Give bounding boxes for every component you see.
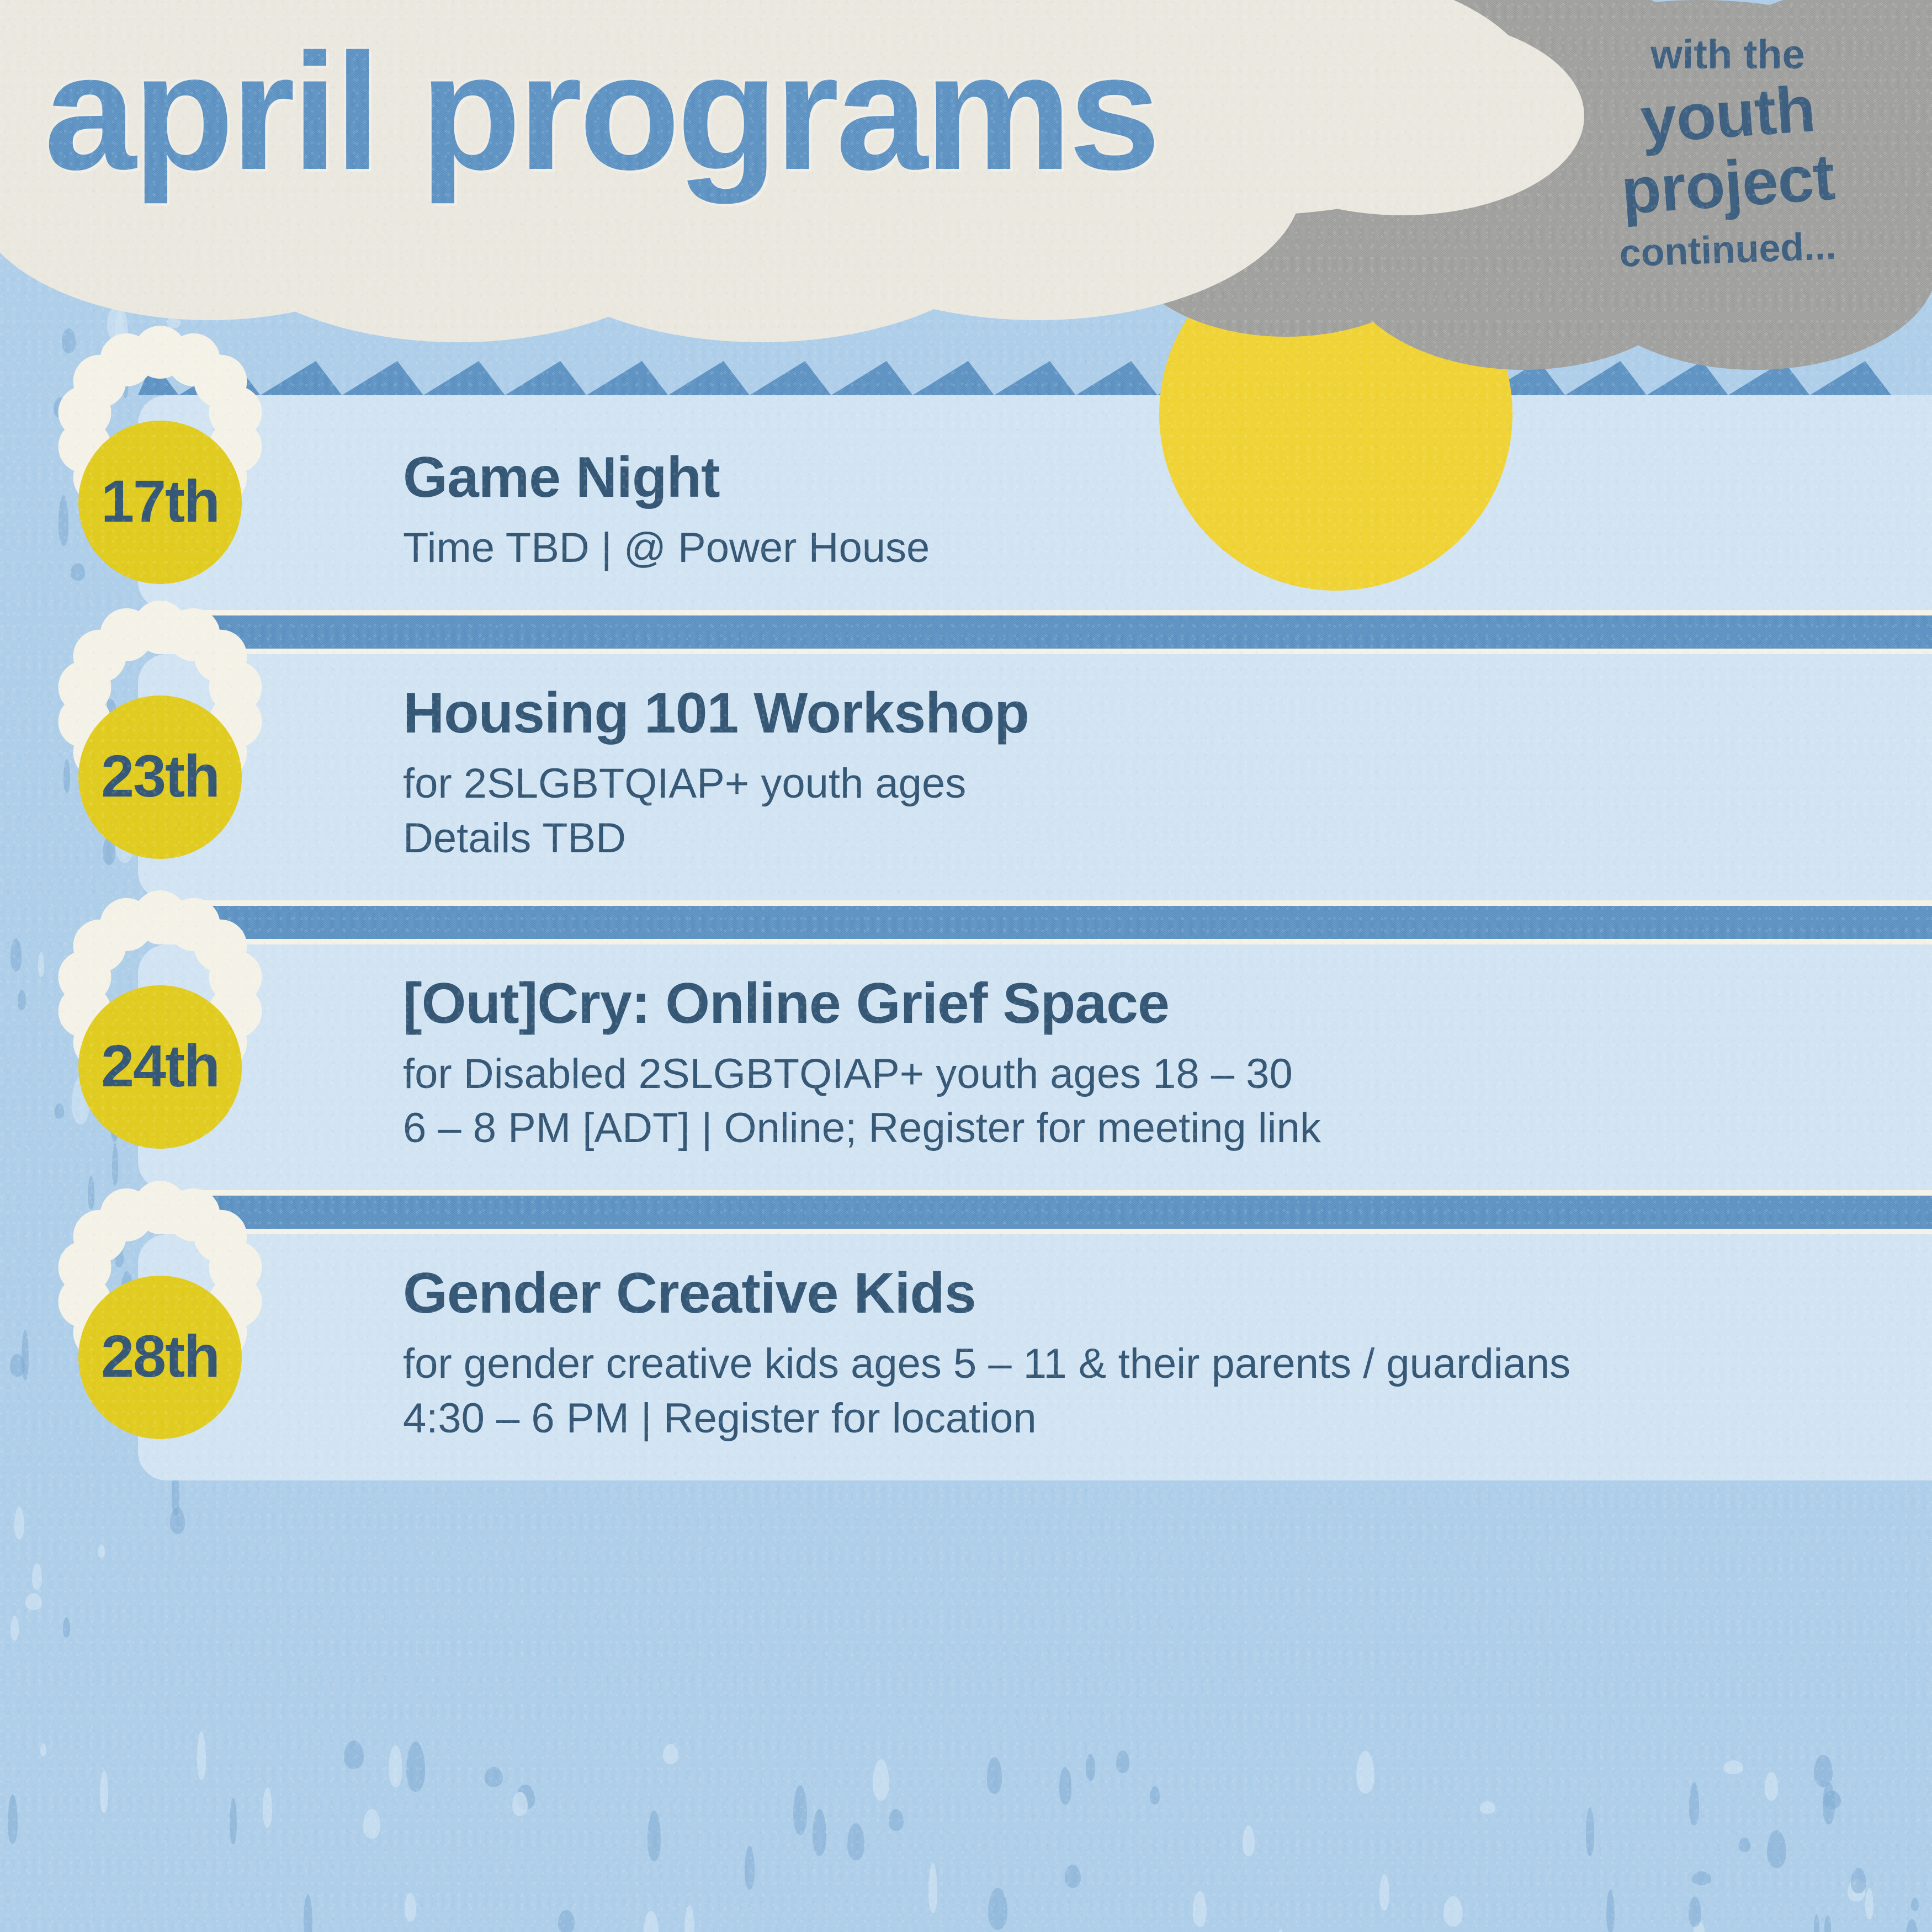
- rain-drop: [32, 1563, 43, 1590]
- rain-drop: [230, 1798, 237, 1844]
- badge-day-number: 17th: [101, 471, 219, 531]
- rain-drop: [847, 1823, 864, 1860]
- rain-drop: [1739, 1838, 1750, 1852]
- rain-drop: [745, 1846, 755, 1889]
- event-card[interactable]: Housing 101 Workshopfor 2SLGBTQIAP+ yout…: [138, 654, 1932, 900]
- rain-drop: [512, 1792, 528, 1816]
- rain-drop: [406, 1742, 426, 1792]
- rain-drop: [63, 1617, 70, 1638]
- rain-drop: [197, 1731, 206, 1781]
- rain-drop: [1277, 1929, 1285, 1932]
- date-badge[interactable]: 24th: [61, 968, 259, 1166]
- rain-drop: [873, 1759, 889, 1801]
- rain-drop: [304, 1894, 312, 1932]
- event-detail-line: for Disabled 2SLGBTQIAP+ youth ages 18 –…: [403, 1047, 1899, 1102]
- rain-drop: [988, 1888, 1007, 1929]
- date-badge[interactable]: 28th: [61, 1258, 259, 1457]
- rain-drop: [1767, 1830, 1786, 1869]
- rain-drop: [1586, 1807, 1594, 1856]
- rain-drop: [1356, 1751, 1374, 1793]
- rain-drop: [14, 1507, 24, 1540]
- rain-drop: [1059, 1767, 1072, 1804]
- rain-drop: [100, 1770, 108, 1813]
- card-divider-band: [138, 610, 1932, 654]
- poster-canvas: april programs with the youth project co…: [0, 0, 1932, 1932]
- date-badge[interactable]: 23th: [61, 678, 259, 877]
- rain-drop: [98, 1544, 105, 1558]
- rain-drop: [1911, 1898, 1919, 1911]
- rain-drop: [170, 1508, 185, 1534]
- event-detail-line: for 2SLGBTQIAP+ youth ages: [403, 757, 1899, 811]
- rain-drop: [987, 1757, 1002, 1794]
- card-divider-band: [138, 1190, 1932, 1234]
- rain-drop: [344, 1740, 364, 1769]
- rain-drop: [647, 1811, 660, 1861]
- rain-drop: [1814, 1755, 1833, 1787]
- event-title: [Out]Cry: Online Grief Space: [403, 974, 1899, 1033]
- kicker-continued: continued...: [1556, 224, 1899, 276]
- event-title: Housing 101 Workshop: [403, 684, 1899, 742]
- badge-core: 23th: [78, 696, 242, 859]
- card-divider-band: [138, 900, 1932, 944]
- event-detail-line: Time TBD | @ Power House: [403, 521, 1899, 576]
- rain-drop: [405, 1893, 416, 1922]
- rain-drop: [8, 1795, 18, 1844]
- rain-drop: [1823, 1791, 1840, 1809]
- rain-drop: [813, 1809, 826, 1856]
- badge-petal: [100, 898, 153, 951]
- rain-drop: [558, 1910, 575, 1932]
- rain-drop: [363, 1809, 380, 1839]
- rain-drop: [1480, 1801, 1496, 1814]
- rain-drop: [1689, 1782, 1699, 1826]
- event-detail-line: for gender creative kids ages 5 – 11 & t…: [403, 1337, 1899, 1392]
- rain-drop: [793, 1785, 807, 1835]
- rain-drop: [663, 1744, 678, 1764]
- rain-drop: [389, 1745, 402, 1787]
- rain-drop: [889, 1809, 904, 1831]
- event-title: Gender Creative Kids: [403, 1264, 1899, 1323]
- rain-drop: [1814, 1914, 1819, 1932]
- rain-drop: [25, 1593, 42, 1610]
- kicker-with-the: with the: [1557, 33, 1899, 76]
- rain-drop: [1765, 1772, 1779, 1800]
- kicker-block: with the youth project continued...: [1557, 33, 1899, 270]
- rain-drop: [1243, 1825, 1255, 1857]
- rain-drop: [1689, 1897, 1701, 1927]
- rain-drop: [1694, 1922, 1705, 1932]
- rain-drop: [684, 1906, 694, 1932]
- rain-drop: [1606, 1889, 1615, 1932]
- rain-drop: [516, 1785, 535, 1809]
- badge-day-number: 24th: [101, 1036, 219, 1096]
- rain-drop: [10, 1616, 19, 1640]
- rain-drop: [1848, 1879, 1865, 1902]
- badge-core: 28th: [78, 1276, 242, 1439]
- rain-drop: [1865, 1888, 1873, 1919]
- event-detail-line: 4:30 – 6 PM | Register for location: [403, 1392, 1899, 1446]
- event-card[interactable]: [Out]Cry: Online Grief Spacefor Disabled…: [138, 944, 1932, 1191]
- rain-drop: [1086, 1754, 1096, 1781]
- rain-drop: [1823, 1782, 1835, 1824]
- badge-day-number: 23th: [101, 746, 219, 806]
- rain-drop: [1906, 1919, 1918, 1932]
- badge-core: 24th: [78, 985, 242, 1149]
- rain-drop: [40, 1743, 46, 1756]
- event-card[interactable]: Gender Creative Kidsfor gender creative …: [138, 1234, 1932, 1480]
- rain-drop: [644, 1911, 659, 1932]
- rain-drop: [1692, 1871, 1711, 1885]
- badge-petal: [100, 333, 153, 386]
- rain-drop: [928, 1863, 937, 1913]
- badge-day-number: 28th: [101, 1326, 219, 1386]
- rain-drop: [1193, 1891, 1207, 1927]
- event-list: Game NightTime TBD | @ Power HouseHousin…: [0, 342, 1932, 1480]
- rain-drop: [1379, 1874, 1390, 1910]
- rain-drop: [1723, 1760, 1743, 1774]
- rain-drop: [1116, 1750, 1129, 1773]
- date-badge[interactable]: 17th: [61, 403, 259, 602]
- rain-drop: [263, 1787, 273, 1828]
- badge-petal: [100, 608, 153, 661]
- event-detail-line: 6 – 8 PM [ADT] | Online; Register for me…: [403, 1101, 1899, 1156]
- event-detail-line: Details TBD: [403, 811, 1899, 866]
- badge-core: 17th: [78, 421, 242, 584]
- page-title: april programs: [44, 33, 1158, 190]
- badge-petal: [100, 1188, 153, 1241]
- rain-drop: [1851, 1868, 1866, 1893]
- rain-drop: [1443, 1896, 1463, 1926]
- rain-drop: [1150, 1786, 1160, 1805]
- rain-drop: [1065, 1865, 1081, 1888]
- rain-drop: [1824, 1915, 1831, 1932]
- rain-drop: [485, 1767, 502, 1787]
